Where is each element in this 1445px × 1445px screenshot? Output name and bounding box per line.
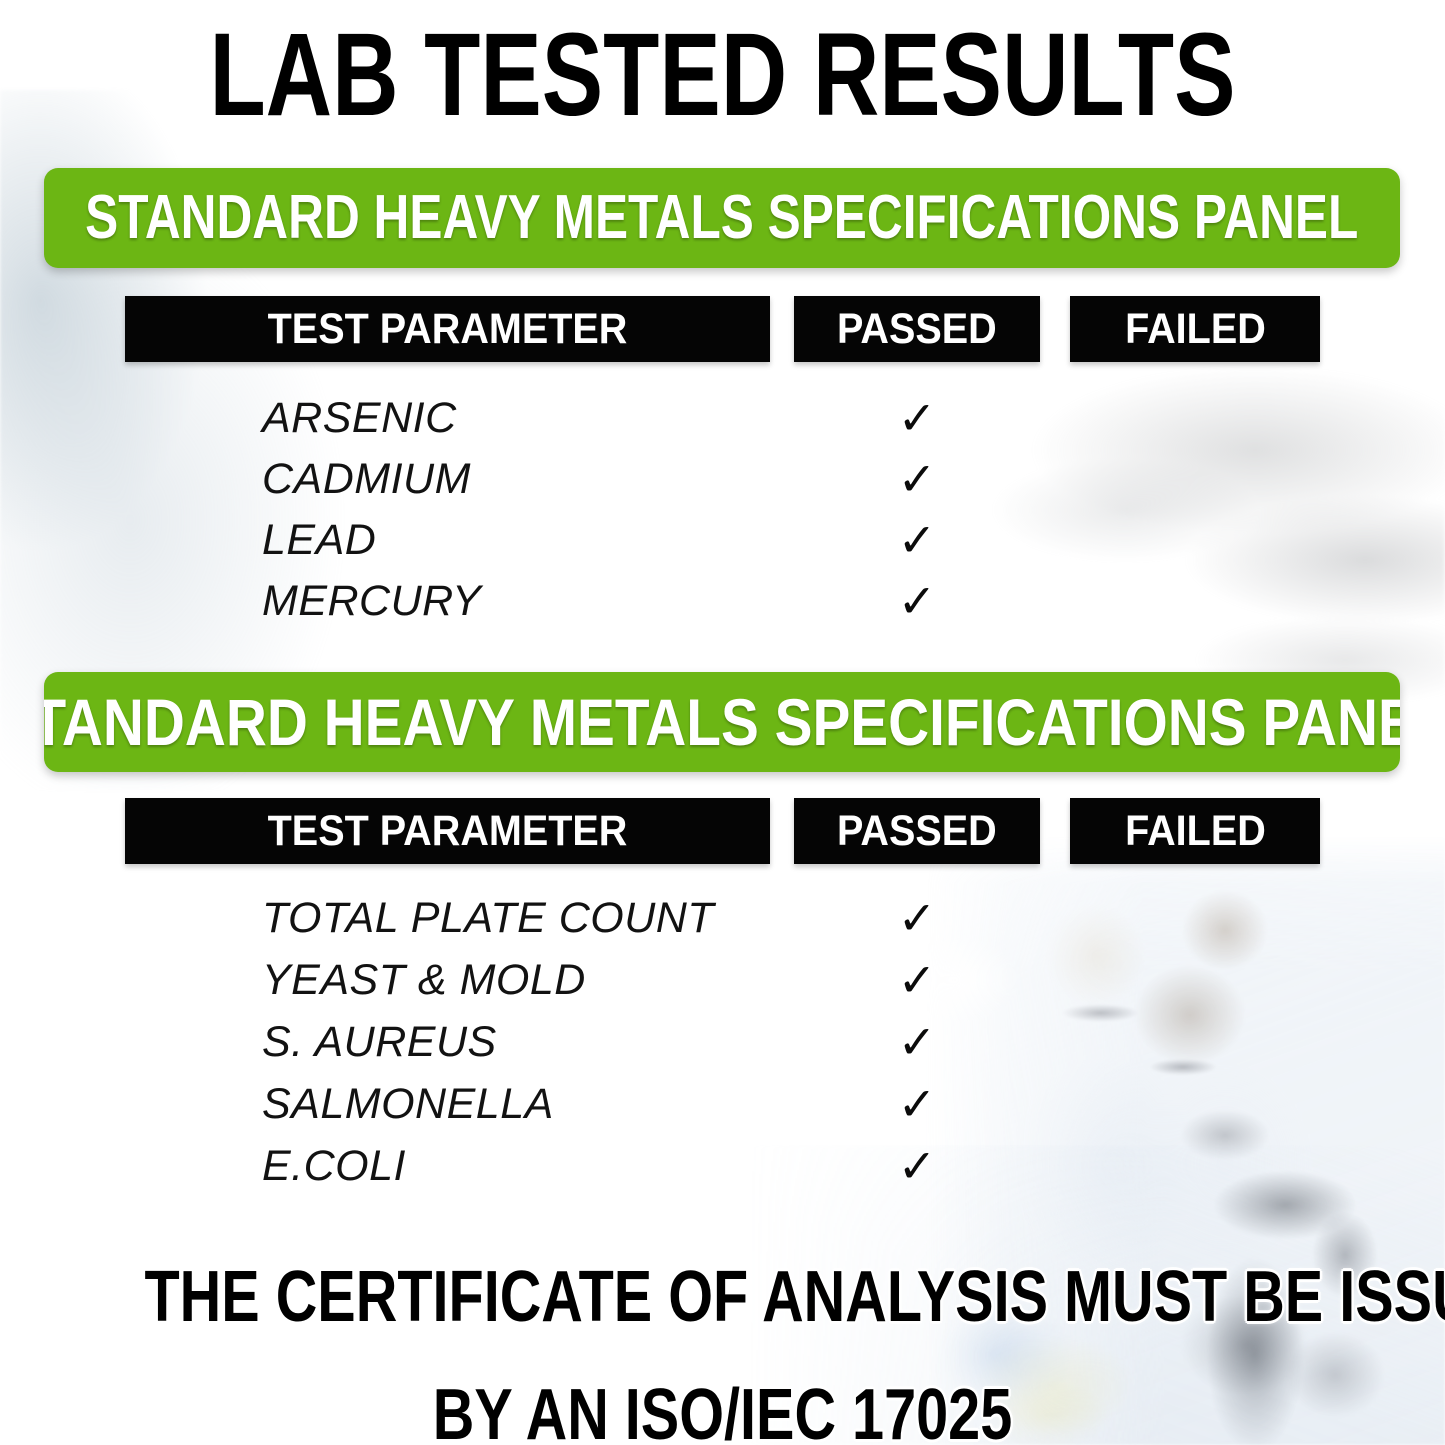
column-header-label: FAILED xyxy=(1125,308,1266,351)
parameter-name: S. AUREUS xyxy=(262,1012,497,1073)
footer-note: THE CERTIFICATE OF ANALYSIS MUST BE ISSU… xyxy=(0,1238,1445,1445)
column-header-test-parameter: TEST PARAMETER xyxy=(125,798,770,864)
check-icon-passed: ✓ xyxy=(794,888,1040,949)
column-header-label: TEST PARAMETER xyxy=(268,810,628,853)
footer-note-line-1: THE CERTIFICATE OF ANALYSIS MUST BE ISSU… xyxy=(145,1238,1301,1356)
column-header-label: PASSED xyxy=(837,308,997,351)
column-header-failed: FAILED xyxy=(1070,798,1320,864)
table-row: MERCURY ✓ xyxy=(0,571,1445,632)
parameter-name: YEAST & MOLD xyxy=(262,950,586,1011)
check-icon-passed: ✓ xyxy=(794,1012,1040,1073)
page-title: LAB TESTED RESULTS xyxy=(159,16,1286,134)
section-banner-label: STANDARD HEAVY METALS SPECIFICATIONS PAN… xyxy=(85,187,1358,249)
column-header-label: FAILED xyxy=(1125,810,1266,853)
section-banner-heavy-metals-2: STANDARD HEAVY METALS SPECIFICATIONS PAN… xyxy=(44,672,1400,772)
column-header-label: PASSED xyxy=(837,810,997,853)
parameter-name: E.COLI xyxy=(262,1136,406,1197)
column-header-test-parameter: TEST PARAMETER xyxy=(125,296,770,362)
check-icon-passed: ✓ xyxy=(794,950,1040,1011)
table-row: LEAD ✓ xyxy=(0,510,1445,571)
check-icon-passed: ✓ xyxy=(794,1136,1040,1197)
check-icon-passed: ✓ xyxy=(794,571,1040,632)
column-header-label: TEST PARAMETER xyxy=(268,308,628,351)
table-row: CADMIUM ✓ xyxy=(0,449,1445,510)
table-row: E.COLI ✓ xyxy=(0,1136,1445,1197)
parameter-name: MERCURY xyxy=(262,571,481,632)
parameter-name: TOTAL PLATE COUNT xyxy=(262,888,714,949)
table-row: S. AUREUS ✓ xyxy=(0,1012,1445,1073)
table-row: SALMONELLA ✓ xyxy=(0,1074,1445,1135)
column-header-passed: PASSED xyxy=(794,798,1040,864)
parameter-name: SALMONELLA xyxy=(262,1074,554,1135)
parameter-name: ARSENIC xyxy=(262,388,457,449)
section-banner-label: STANDARD HEAVY METALS SPECIFICATIONS PAN… xyxy=(44,689,1400,755)
table-header-row-1: TEST PARAMETER PASSED FAILED xyxy=(0,296,1445,362)
parameter-name: LEAD xyxy=(262,510,376,571)
table-row: TOTAL PLATE COUNT ✓ xyxy=(0,888,1445,949)
column-header-passed: PASSED xyxy=(794,296,1040,362)
check-icon-passed: ✓ xyxy=(794,388,1040,449)
table-row: ARSENIC ✓ xyxy=(0,388,1445,449)
table-header-row-2: TEST PARAMETER PASSED FAILED xyxy=(0,798,1445,864)
lab-results-infographic: LAB TESTED RESULTS STANDARD HEAVY METALS… xyxy=(0,0,1445,1445)
check-icon-passed: ✓ xyxy=(794,510,1040,571)
check-icon-passed: ✓ xyxy=(794,1074,1040,1135)
parameter-name: CADMIUM xyxy=(262,449,471,510)
check-icon-passed: ✓ xyxy=(794,449,1040,510)
section-banner-heavy-metals-1: STANDARD HEAVY METALS SPECIFICATIONS PAN… xyxy=(44,168,1400,268)
column-header-failed: FAILED xyxy=(1070,296,1320,362)
table-row: YEAST & MOLD ✓ xyxy=(0,950,1445,1011)
footer-note-line-2: BY AN ISO/IEC 17025 xyxy=(145,1356,1301,1445)
